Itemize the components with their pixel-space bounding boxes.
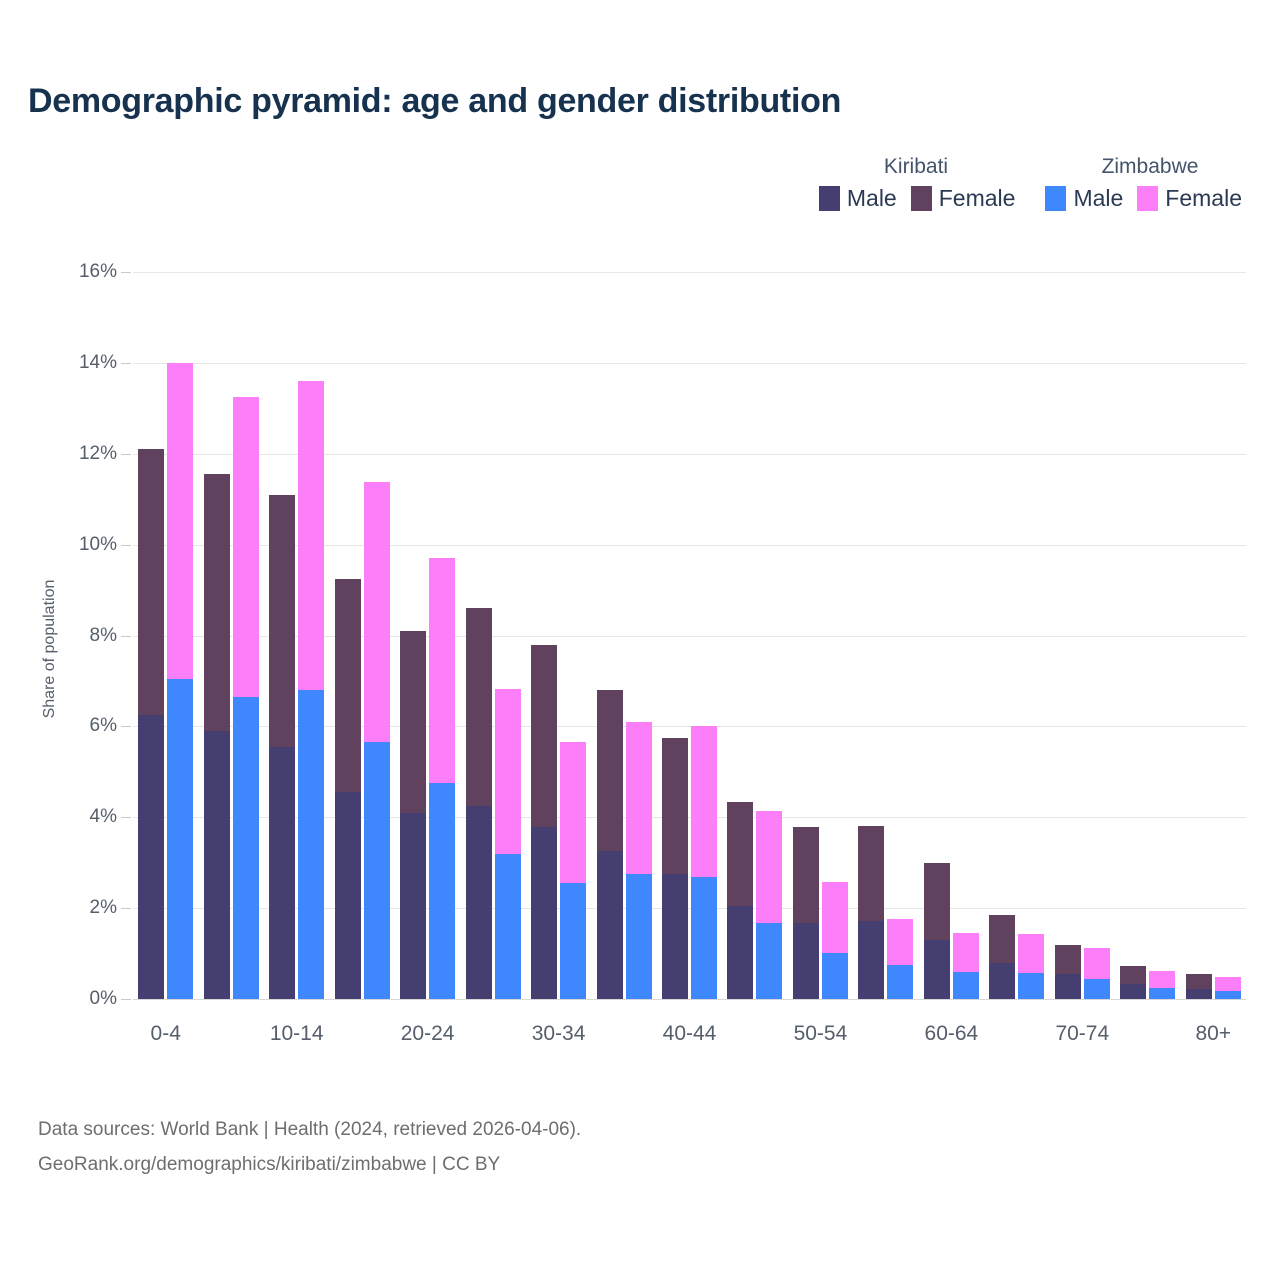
bar-group — [269, 272, 324, 999]
y-tick-mark — [121, 726, 131, 727]
bar-zimbabwe-female-segment[interactable] — [1018, 934, 1044, 973]
bar-zimbabwe-male-segment[interactable] — [1149, 988, 1175, 999]
bar-group — [727, 272, 782, 999]
bar-zimbabwe-male-segment[interactable] — [953, 972, 979, 999]
bar-zimbabwe-female-segment[interactable] — [429, 558, 455, 783]
y-tick-mark — [121, 454, 131, 455]
bar-zimbabwe-male-segment[interactable] — [495, 854, 521, 999]
bar-kiribati-male-segment[interactable] — [1055, 974, 1081, 999]
bar-zimbabwe-male-segment[interactable] — [298, 690, 324, 999]
y-tick-label: 10% — [27, 534, 117, 556]
bar-zimbabwe-male-segment[interactable] — [233, 697, 259, 999]
bar-group — [924, 272, 979, 999]
bar-kiribati-male-segment[interactable] — [531, 827, 557, 999]
y-tick-mark — [121, 908, 131, 909]
y-tick-mark — [121, 999, 131, 1000]
bar-group — [531, 272, 586, 999]
bar-zimbabwe-female-segment[interactable] — [887, 919, 913, 964]
bar-kiribati-female-segment[interactable] — [1055, 945, 1081, 974]
chart-plot-area: Share of population 0%2%4%6%8%10%12%14%1… — [0, 0, 1280, 1280]
bar-zimbabwe-female-segment[interactable] — [364, 482, 390, 742]
footer-data-sources: Data sources: World Bank | Health (2024,… — [38, 1112, 581, 1147]
bar-zimbabwe-male-segment[interactable] — [1018, 973, 1044, 999]
bar-zimbabwe-male-segment[interactable] — [756, 923, 782, 999]
bar-zimbabwe-male-segment[interactable] — [429, 783, 455, 999]
bar-kiribati-male-segment[interactable] — [793, 923, 819, 999]
bar-zimbabwe-male-segment[interactable] — [167, 679, 193, 999]
y-tick-label: 4% — [27, 806, 117, 828]
bar-kiribati-male-segment[interactable] — [727, 906, 753, 999]
bar-kiribati-female-segment[interactable] — [466, 608, 492, 806]
bar-kiribati-female-segment[interactable] — [138, 449, 164, 715]
bar-kiribati-female-segment[interactable] — [597, 690, 623, 851]
bar-kiribati-female-segment[interactable] — [269, 495, 295, 747]
bar-zimbabwe-male-segment[interactable] — [1215, 991, 1241, 999]
bar-kiribati-female-segment[interactable] — [727, 802, 753, 906]
bar-group — [1186, 272, 1241, 999]
bar-zimbabwe-female-segment[interactable] — [298, 381, 324, 690]
bar-zimbabwe-female-segment[interactable] — [691, 726, 717, 877]
bar-zimbabwe-male-segment[interactable] — [691, 877, 717, 999]
x-tick-label: 0-4 — [151, 1022, 181, 1046]
x-tick-label: 40-44 — [663, 1022, 717, 1046]
bar-kiribati-female-segment[interactable] — [924, 863, 950, 940]
bar-kiribati-female-segment[interactable] — [662, 738, 688, 874]
bar-zimbabwe-male-segment[interactable] — [626, 874, 652, 999]
y-tick-label: 12% — [27, 443, 117, 465]
x-tick-label: 20-24 — [401, 1022, 455, 1046]
y-tick-label: 14% — [27, 352, 117, 374]
x-tick-label: 80+ — [1195, 1022, 1231, 1046]
bar-kiribati-male-segment[interactable] — [138, 715, 164, 999]
bar-zimbabwe-female-segment[interactable] — [626, 722, 652, 874]
bar-kiribati-male-segment[interactable] — [335, 792, 361, 999]
y-tick-mark — [121, 545, 131, 546]
y-tick-label: 2% — [27, 897, 117, 919]
bar-group — [662, 272, 717, 999]
x-tick-label: 60-64 — [925, 1022, 979, 1046]
bar-group — [1055, 272, 1110, 999]
bar-group — [466, 272, 521, 999]
y-tick-label: 0% — [27, 988, 117, 1010]
bar-group — [204, 272, 259, 999]
footer-attribution: GeoRank.org/demographics/kiribati/zimbab… — [38, 1147, 581, 1182]
bar-zimbabwe-female-segment[interactable] — [495, 689, 521, 853]
bar-kiribati-male-segment[interactable] — [989, 963, 1015, 999]
bar-kiribati-male-segment[interactable] — [858, 921, 884, 999]
x-tick-label: 50-54 — [794, 1022, 848, 1046]
bar-kiribati-female-segment[interactable] — [1186, 974, 1212, 989]
bar-kiribati-male-segment[interactable] — [400, 813, 426, 999]
bar-zimbabwe-male-segment[interactable] — [822, 953, 848, 999]
y-tick-mark — [121, 363, 131, 364]
bar-kiribati-female-segment[interactable] — [204, 474, 230, 731]
x-tick-label: 30-34 — [532, 1022, 586, 1046]
bar-kiribati-male-segment[interactable] — [269, 747, 295, 999]
bar-zimbabwe-female-segment[interactable] — [1084, 948, 1110, 978]
bars-container — [133, 272, 1246, 999]
bar-zimbabwe-male-segment[interactable] — [1084, 979, 1110, 999]
bar-kiribati-female-segment[interactable] — [400, 631, 426, 813]
y-tick-mark — [121, 636, 131, 637]
bar-zimbabwe-female-segment[interactable] — [1215, 977, 1241, 991]
y-tick-label: 6% — [27, 715, 117, 737]
chart-page: Demographic pyramid: age and gender dist… — [0, 0, 1280, 1280]
bar-zimbabwe-male-segment[interactable] — [887, 965, 913, 999]
bar-group — [597, 272, 652, 999]
bar-group — [335, 272, 390, 999]
bar-kiribati-male-segment[interactable] — [1120, 984, 1146, 999]
bar-kiribati-female-segment[interactable] — [858, 826, 884, 921]
bar-group — [989, 272, 1044, 999]
bar-kiribati-male-segment[interactable] — [662, 874, 688, 999]
bar-kiribati-male-segment[interactable] — [204, 731, 230, 999]
y-tick-label: 16% — [27, 261, 117, 283]
y-tick-mark — [121, 272, 131, 273]
bar-kiribati-male-segment[interactable] — [466, 806, 492, 999]
bar-zimbabwe-male-segment[interactable] — [560, 883, 586, 999]
bar-kiribati-female-segment[interactable] — [335, 579, 361, 793]
bar-group — [858, 272, 913, 999]
x-tick-label: 70-74 — [1055, 1022, 1109, 1046]
bar-group — [793, 272, 848, 999]
chart-footer: Data sources: World Bank | Health (2024,… — [38, 1112, 581, 1182]
bar-zimbabwe-male-segment[interactable] — [364, 742, 390, 999]
bar-zimbabwe-female-segment[interactable] — [822, 882, 848, 952]
bar-kiribati-male-segment[interactable] — [1186, 989, 1212, 999]
bar-zimbabwe-female-segment[interactable] — [953, 933, 979, 972]
gridline — [133, 999, 1246, 1000]
bar-kiribati-female-segment[interactable] — [793, 827, 819, 922]
bar-group — [138, 272, 193, 999]
y-tick-mark — [121, 817, 131, 818]
x-tick-label: 10-14 — [270, 1022, 324, 1046]
bar-zimbabwe-female-segment[interactable] — [560, 742, 586, 883]
bar-group — [1120, 272, 1175, 999]
bar-group — [400, 272, 455, 999]
y-tick-label: 8% — [27, 625, 117, 647]
bar-zimbabwe-female-segment[interactable] — [233, 397, 259, 697]
bar-kiribati-female-segment[interactable] — [989, 915, 1015, 963]
bar-kiribati-male-segment[interactable] — [597, 851, 623, 999]
bar-kiribati-female-segment[interactable] — [531, 645, 557, 828]
bar-zimbabwe-female-segment[interactable] — [167, 363, 193, 679]
bar-kiribati-female-segment[interactable] — [1120, 966, 1146, 984]
bar-zimbabwe-female-segment[interactable] — [756, 811, 782, 922]
bar-kiribati-male-segment[interactable] — [924, 940, 950, 999]
bar-zimbabwe-female-segment[interactable] — [1149, 971, 1175, 988]
